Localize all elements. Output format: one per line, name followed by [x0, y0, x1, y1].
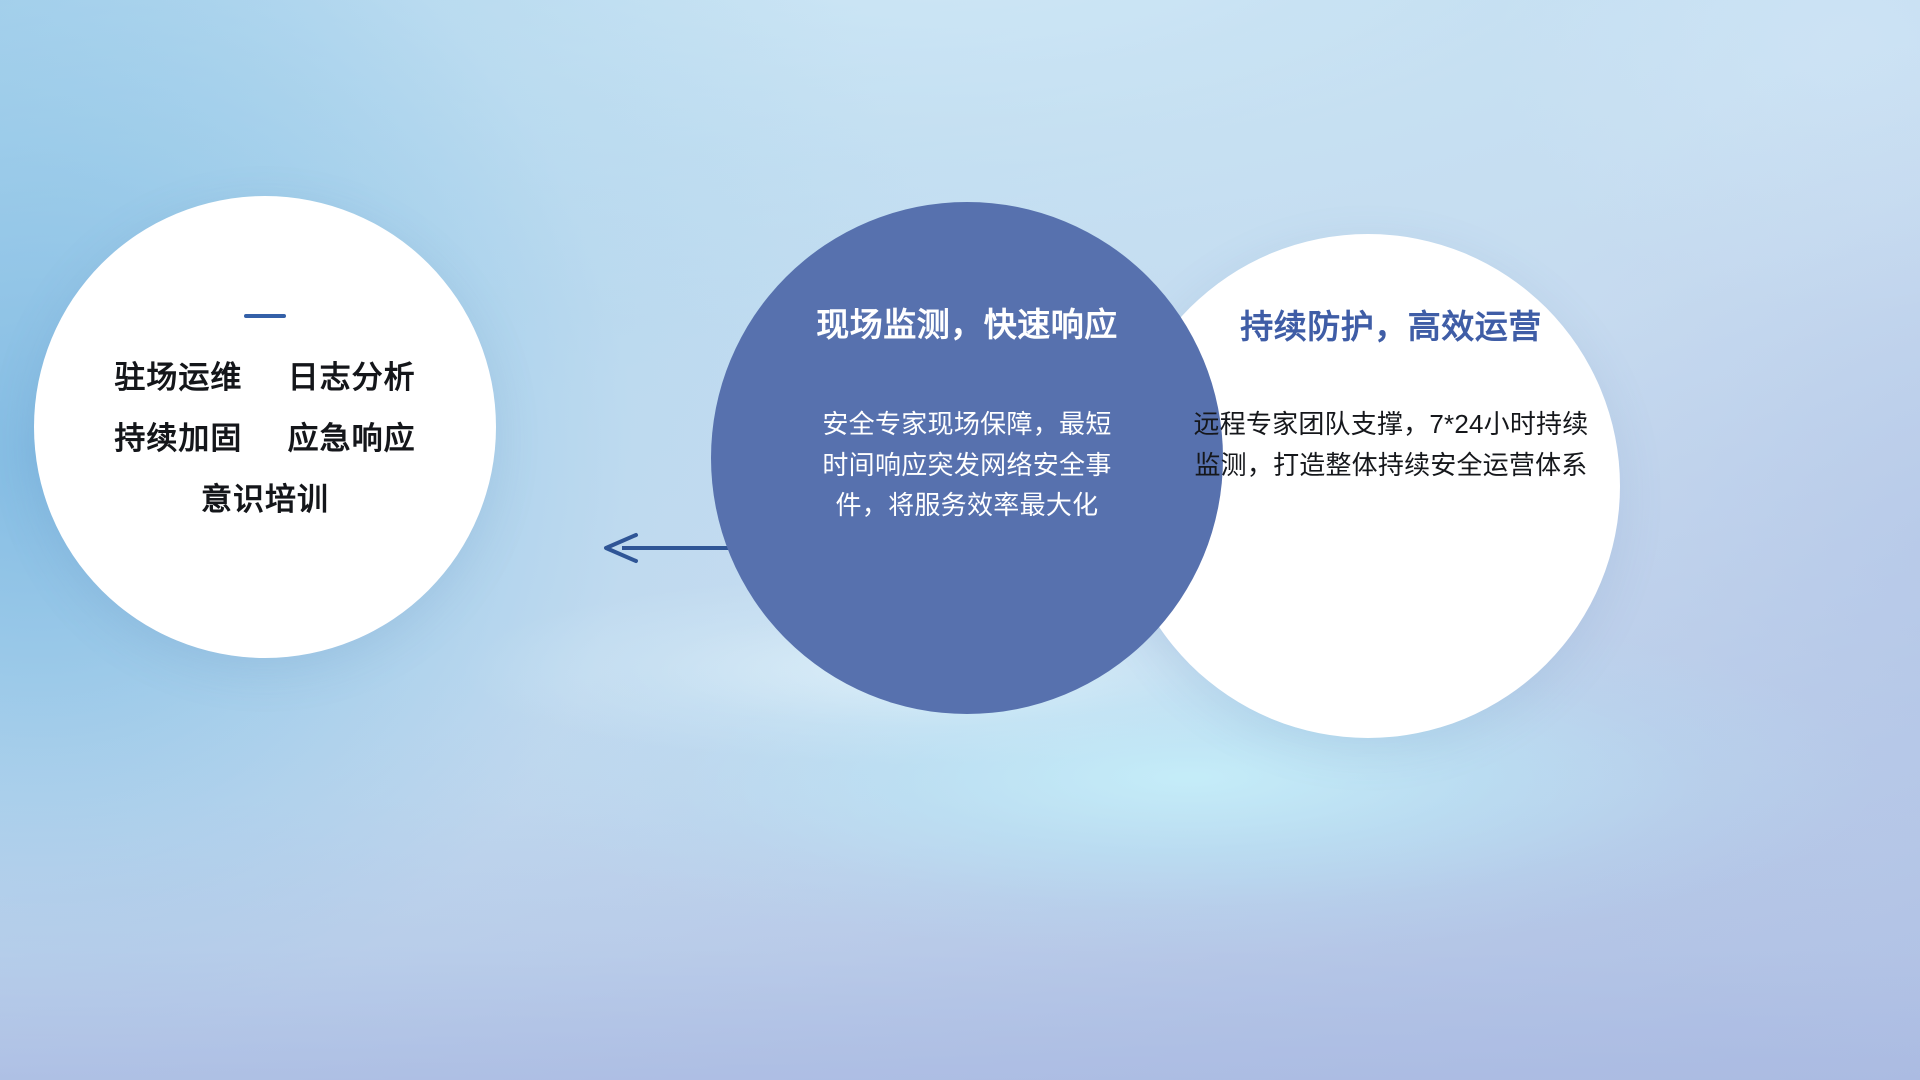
- right-circle-title: 持续防护，高效运营: [1240, 300, 1542, 348]
- left-circle-keyword: 驻场运维: [114, 360, 242, 395]
- left-circle-content: 驻场运维 日志分析 持续加固 应急响应 意识培训: [34, 196, 496, 658]
- right-circle-body: 远程专家团队支撑，7*24小时持续监测，打造整体持续安全运营体系: [1189, 404, 1593, 485]
- left-circle-keyword: 日志分析: [288, 360, 416, 395]
- right-circle-content: 持续防护，高效运营 远程专家团队支撑，7*24小时持续监测，打造整体持续安全运营…: [1116, 234, 1620, 738]
- left-circle-text-row: 意识培训: [201, 484, 329, 517]
- left-circle-text-row: 驻场运维 日志分析: [114, 362, 415, 395]
- slide-canvas: 驻场运维 日志分析 持续加固 应急响应 意识培训 现场监测，快速响应 安全专家现…: [0, 0, 1920, 1080]
- left-circle-keyword: 应急响应: [288, 421, 416, 456]
- left-circle-keyword: 持续加固: [114, 421, 242, 456]
- left-circle-keyword: 意识培训: [201, 482, 329, 517]
- middle-circle-title: 现场监测，快速响应: [816, 298, 1118, 346]
- left-circle-text-row: 持续加固 应急响应: [114, 423, 415, 456]
- middle-circle-body: 安全专家现场保障，最短时间响应突发网络安全事件，将服务效率最大化: [821, 404, 1113, 526]
- left-circle-divider-dash: [244, 314, 286, 318]
